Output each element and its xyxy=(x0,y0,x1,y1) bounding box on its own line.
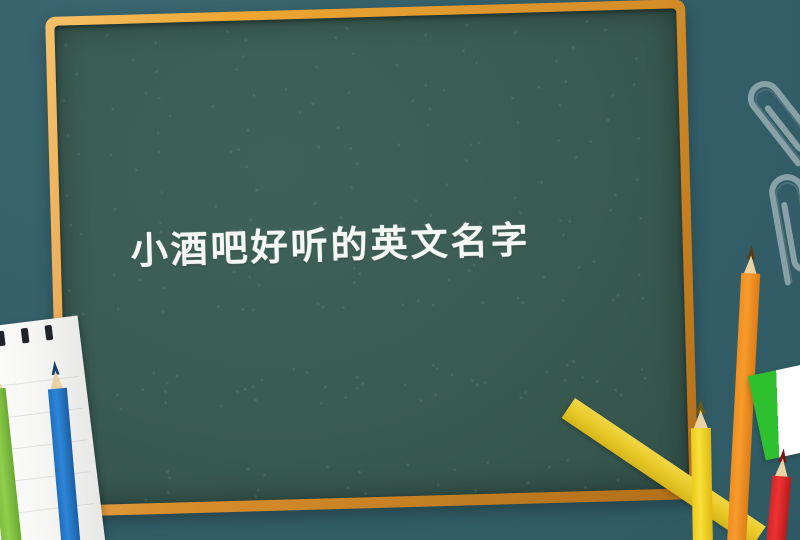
notepad-ring xyxy=(21,328,30,344)
screenshot-canvas: 小酒吧好听的英文名字 xyxy=(0,0,800,540)
notepad-rule-line xyxy=(0,439,87,453)
pencil-barrel xyxy=(691,428,713,540)
notepad-rule-line xyxy=(0,408,83,422)
notepad-ring xyxy=(45,325,54,341)
notepad-ring xyxy=(0,331,6,347)
notepad-rule-line xyxy=(0,376,79,390)
yellow-pencil xyxy=(690,400,713,540)
